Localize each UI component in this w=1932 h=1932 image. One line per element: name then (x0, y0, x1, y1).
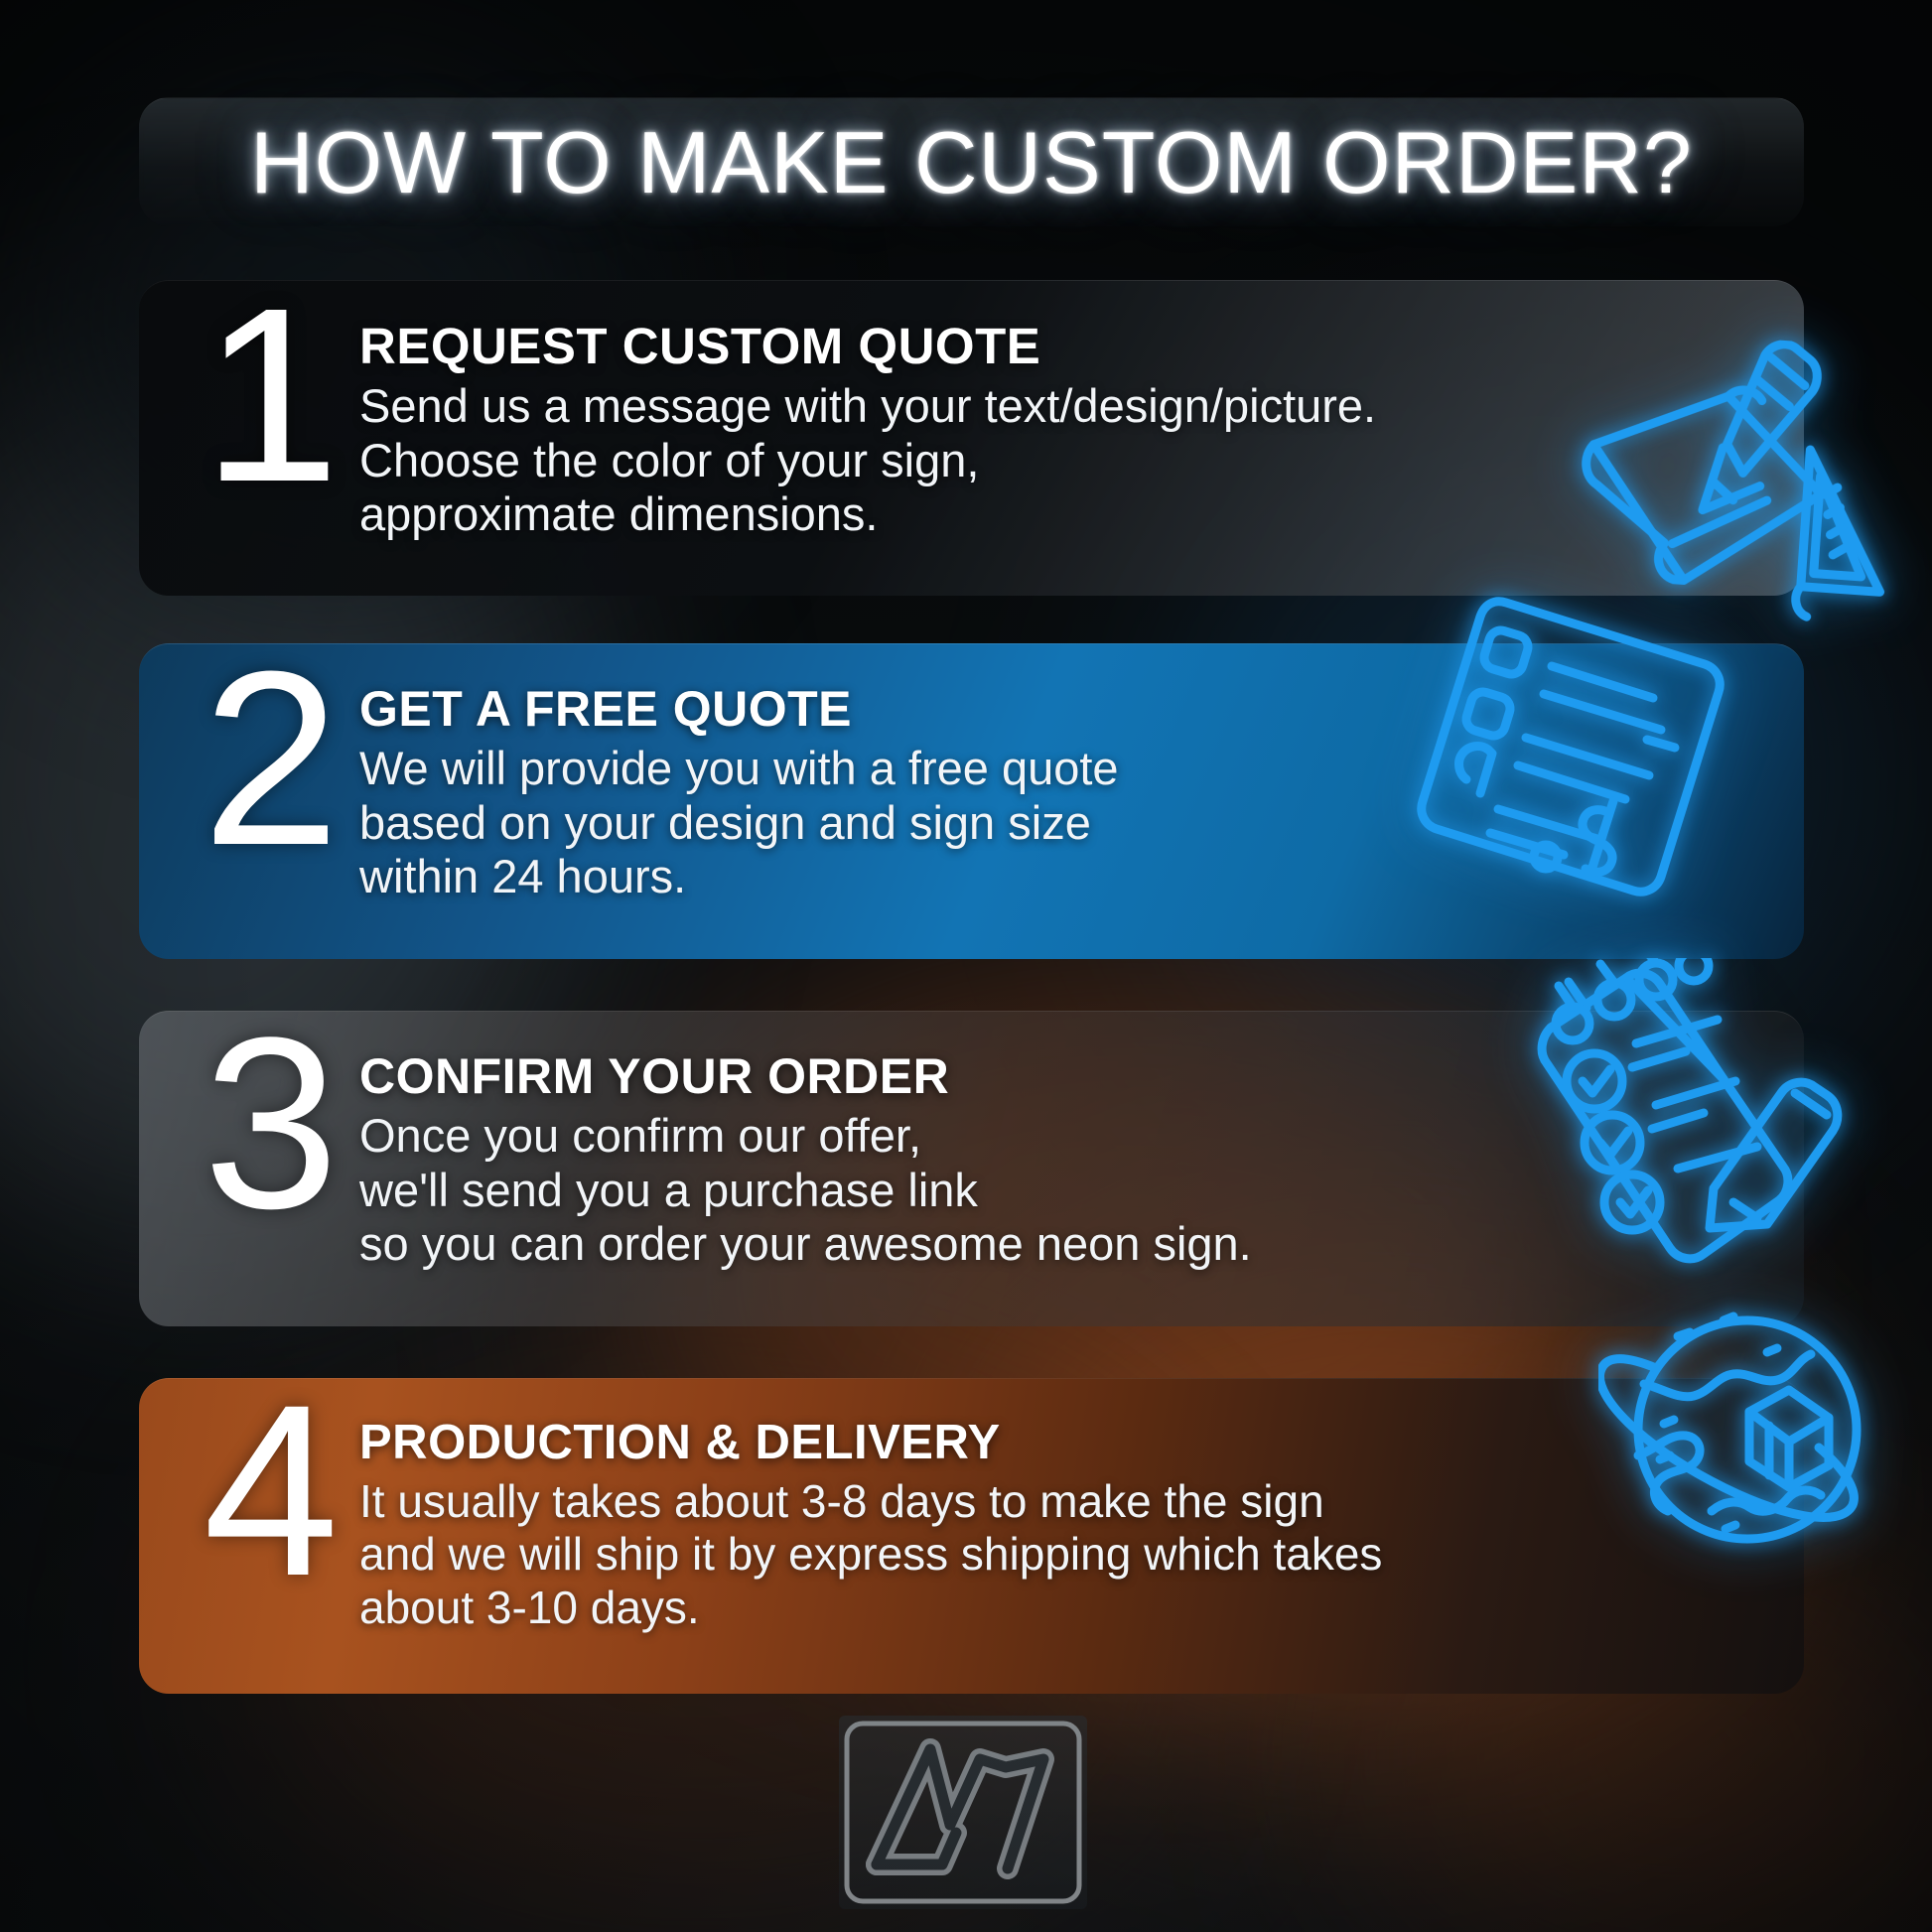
step-card-4: 4 PRODUCTION & DELIVERY It usually takes… (139, 1378, 1804, 1694)
step-description-1: Send us a message with your text/design/… (359, 379, 1764, 542)
step-card-1: 1 REQUEST CUSTOM QUOTE Send us a message… (139, 280, 1804, 596)
step-card-4-surface: 4 PRODUCTION & DELIVERY It usually takes… (139, 1378, 1804, 1694)
logo-plate (839, 1716, 1087, 1909)
step-desc-line: Send us a message with your text/design/… (359, 379, 1764, 434)
step-number-2: 2 (183, 654, 359, 863)
step-title-4: PRODUCTION & DELIVERY (359, 1417, 1764, 1469)
step-title-1: REQUEST CUSTOM QUOTE (359, 319, 1764, 373)
step-text-3: CONFIRM YOUR ORDER Once you confirm our … (359, 1037, 1764, 1272)
step-desc-line: about 3-10 days. (359, 1582, 1764, 1634)
step-text-4: PRODUCTION & DELIVERY It usually takes a… (359, 1405, 1764, 1634)
content-column: HOW TO MAKE CUSTOM ORDER? 1 REQUEST CUST… (0, 0, 1932, 1932)
step-desc-line: Once you confirm our offer, (359, 1109, 1764, 1164)
step-desc-line: we'll send you a purchase link (359, 1164, 1764, 1218)
step-desc-line: We will provide you with a free quote (359, 742, 1764, 796)
step-desc-line: so you can order your awesome neon sign. (359, 1217, 1764, 1272)
step-desc-line: based on your design and sign size (359, 796, 1764, 851)
step-desc-line: approximate dimensions. (359, 487, 1764, 542)
ln-neon-monogram-logo (839, 1716, 1087, 1909)
step-card-3-surface: 3 CONFIRM YOUR ORDER Once you confirm ou… (139, 1011, 1804, 1326)
step-number-4: 4 (183, 1389, 359, 1594)
step-card-3: 3 CONFIRM YOUR ORDER Once you confirm ou… (139, 1011, 1804, 1326)
step-title-3: CONFIRM YOUR ORDER (359, 1049, 1764, 1103)
step-card-1-surface: 1 REQUEST CUSTOM QUOTE Send us a message… (139, 280, 1804, 596)
page-title: HOW TO MAKE CUSTOM ORDER? (250, 112, 1693, 213)
step-desc-line: It usually takes about 3-8 days to make … (359, 1475, 1764, 1528)
step-description-4: It usually takes about 3-8 days to make … (359, 1475, 1764, 1634)
step-desc-line: and we will ship it by express shipping … (359, 1528, 1764, 1581)
infographic-canvas: HOW TO MAKE CUSTOM ORDER? 1 REQUEST CUST… (0, 0, 1932, 1932)
step-description-3: Once you confirm our offer, we'll send y… (359, 1109, 1764, 1272)
step-number-1: 1 (183, 291, 359, 499)
step-description-2: We will provide you with a free quote ba… (359, 742, 1764, 904)
step-number-3: 3 (183, 1022, 359, 1227)
step-text-2: GET A FREE QUOTE We will provide you wit… (359, 670, 1764, 904)
page-title-plate: HOW TO MAKE CUSTOM ORDER? (139, 97, 1804, 226)
step-title-2: GET A FREE QUOTE (359, 682, 1764, 736)
step-card-2-surface: 2 GET A FREE QUOTE We will provide you w… (139, 643, 1804, 959)
step-desc-line: within 24 hours. (359, 850, 1764, 904)
step-desc-line: Choose the color of your sign, (359, 434, 1764, 488)
step-text-1: REQUEST CUSTOM QUOTE Send us a message w… (359, 307, 1764, 542)
step-card-2: 2 GET A FREE QUOTE We will provide you w… (139, 643, 1804, 959)
